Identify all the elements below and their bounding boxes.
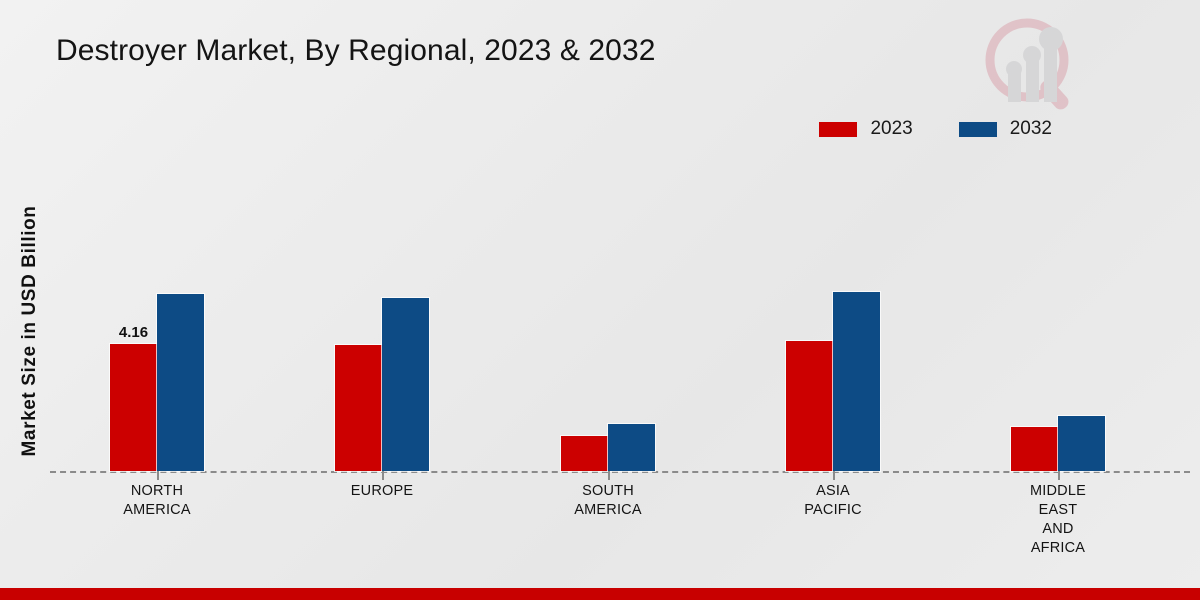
bar-2032-middle-east-and-africa[interactable] <box>1058 416 1105 471</box>
x-axis-tick <box>157 471 159 480</box>
bar-2023-south-america[interactable] <box>561 436 608 471</box>
x-axis-tick <box>608 471 610 480</box>
bar-value-label: 4.16 <box>119 324 148 341</box>
x-axis-tick <box>382 471 384 480</box>
bar-2023-europe[interactable] <box>335 345 382 471</box>
category-label-europe: EUROPE <box>287 482 477 501</box>
category-label-middle-east-and-africa: MIDDLEEASTANDAFRICA <box>963 482 1153 558</box>
bar-group <box>528 241 688 471</box>
bar-group <box>978 241 1138 471</box>
bar-2032-north-america[interactable] <box>157 294 204 471</box>
bar-group <box>753 241 913 471</box>
bar-group <box>302 241 462 471</box>
x-axis-tick <box>833 471 835 480</box>
bar-2023-middle-east-and-africa[interactable] <box>1011 427 1058 471</box>
category-label-north-america: NORTHAMERICA <box>62 482 252 520</box>
bar-2023-asia-pacific[interactable] <box>786 341 833 471</box>
bar-2032-asia-pacific[interactable] <box>833 292 880 471</box>
bar-2023-north-america[interactable]: 4.16 <box>110 344 157 471</box>
bar-group: 4.16 <box>77 241 237 471</box>
category-label-south-america: SOUTHAMERICA <box>513 482 703 520</box>
bar-2032-europe[interactable] <box>382 298 429 471</box>
x-axis-baseline <box>50 471 1190 473</box>
category-label-asia-pacific: ASIAPACIFIC <box>738 482 928 520</box>
chart-canvas: Destroyer Market, By Regional, 2023 & 20… <box>0 0 1200 600</box>
x-axis-tick <box>1058 471 1060 480</box>
plot-area: 4.16 NORTHAMERICAEUROPESOUTHAMERICAASIAP… <box>0 0 1200 600</box>
bar-2032-south-america[interactable] <box>608 424 655 471</box>
bottom-accent-bar <box>0 588 1200 600</box>
